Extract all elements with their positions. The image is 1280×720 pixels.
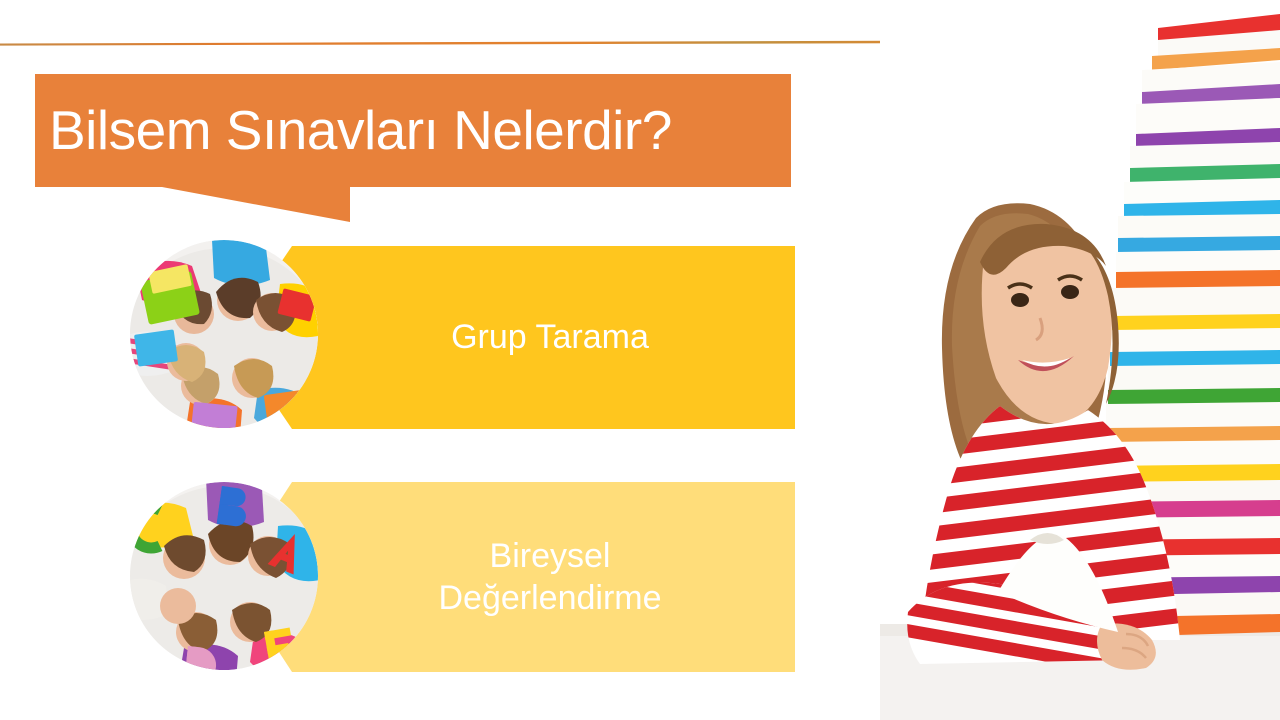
title-speech-banner: Bilsem Sınavları Nelerdir?	[35, 74, 791, 224]
exam-item-grup-tarama[interactable]: Grup Tarama	[130, 240, 795, 435]
page-title: Bilsem Sınavları Nelerdir?	[49, 74, 791, 187]
bireysel-degerlendirme-label: Bireysel Değerlendirme	[305, 482, 795, 672]
slide-canvas: Bilsem Sınavları Nelerdir?	[0, 0, 1280, 720]
children-lying-in-circle-with-colorful-books-photo	[130, 240, 318, 428]
exam-item-bireysel-degerlendirme[interactable]: Bireysel Değerlendirme	[130, 478, 795, 676]
grup-tarama-label: Grup Tarama	[305, 246, 795, 428]
children-lying-in-circle-with-letters-photo	[130, 482, 318, 670]
girl-with-stack-of-books-photo	[880, 0, 1280, 720]
